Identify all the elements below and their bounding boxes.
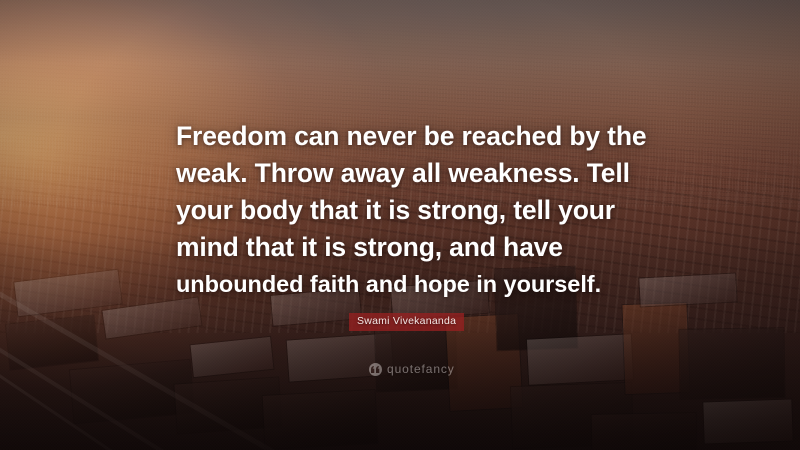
quotefancy-watermark: quotefancy xyxy=(369,363,455,376)
quote-line-5: unbounded faith and hope in yourself. xyxy=(176,266,636,303)
quote-mark-icon xyxy=(369,363,382,376)
quote-text-block: Freedom can never be reached by the weak… xyxy=(176,118,636,303)
quote-line-3: your body that it is strong, tell your xyxy=(176,192,636,229)
watermark-label: quotefancy xyxy=(387,363,455,376)
quote-line-1: Freedom can never be reached by the xyxy=(176,118,636,155)
quote-poster: Freedom can never be reached by the weak… xyxy=(0,0,800,450)
author-attribution-badge: Swami Vivekananda xyxy=(349,313,464,331)
quote-line-4: mind that it is strong, and have xyxy=(176,229,636,266)
quote-line-2: weak. Throw away all weakness. Tell xyxy=(176,155,636,192)
poster-content: Freedom can never be reached by the weak… xyxy=(0,0,800,450)
